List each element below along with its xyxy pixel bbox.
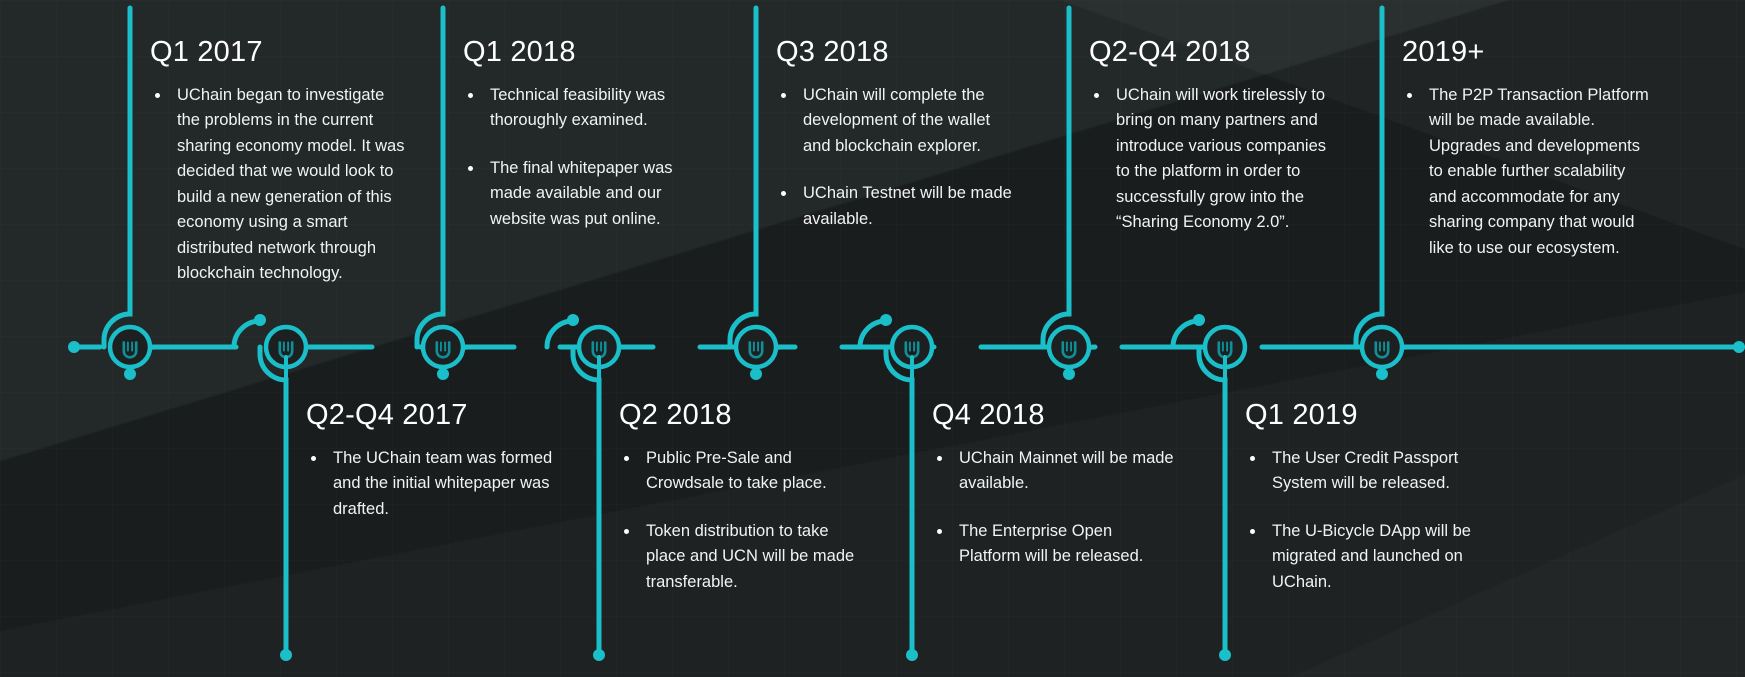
milestone-rule bbox=[441, 8, 445, 308]
timeline-node[interactable] bbox=[110, 327, 150, 367]
bullet-text: UChain will complete the development of … bbox=[803, 86, 990, 155]
milestone-card-q2-q4-2017: Q2-Q4 2017 The UChain team was formed an… bbox=[284, 390, 574, 522]
milestone-title: 2019+ bbox=[1402, 37, 1655, 69]
bullet-text: UChain Mainnet will be made available. bbox=[959, 449, 1174, 493]
milestone-bullet: The User Credit Passport System will be … bbox=[1245, 446, 1478, 497]
bullet-text: Public Pre-Sale and Crowdsale to take pl… bbox=[646, 449, 827, 493]
milestone-title: Q1 2018 bbox=[463, 37, 709, 69]
bullet-text: The Enterprise Open Platform will be rel… bbox=[959, 522, 1143, 566]
milestone-bullet: The UChain team was formed and the initi… bbox=[306, 446, 574, 523]
bullet-dot bbox=[1250, 456, 1255, 461]
timeline-node-group bbox=[110, 327, 1402, 367]
milestone-card-q1-2017: Q1 2017 UChain began to investigate the … bbox=[128, 8, 408, 287]
bullet-dot bbox=[624, 529, 629, 534]
bullet-text: UChain began to investigate the problems… bbox=[177, 86, 404, 283]
milestone-rule bbox=[1380, 8, 1384, 308]
milestone-bullets: The User Credit Passport System will be … bbox=[1245, 446, 1478, 596]
bullet-dot bbox=[781, 191, 786, 196]
timeline-node[interactable] bbox=[423, 327, 463, 367]
milestone-card-q2-2018: Q2 2018 Public Pre-Sale and Crowdsale to… bbox=[597, 390, 865, 595]
milestone-title: Q1 2019 bbox=[1245, 400, 1478, 432]
milestone-bullets: UChain Mainnet will be made available. T… bbox=[932, 446, 1178, 570]
milestone-bullets: UChain will work tirelessly to bring on … bbox=[1089, 83, 1335, 236]
timeline-node[interactable] bbox=[1362, 327, 1402, 367]
milestone-rule bbox=[1067, 8, 1071, 308]
milestone-card-q4-2018: Q4 2018 UChain Mainnet will be made avai… bbox=[910, 390, 1178, 570]
milestone-bullet: Technical feasibility was thoroughly exa… bbox=[463, 83, 709, 134]
bullet-dot bbox=[624, 456, 629, 461]
milestone-card-q2-q4-2018: Q2-Q4 2018 UChain will work tirelessly t… bbox=[1067, 8, 1335, 236]
milestone-bullet: UChain began to investigate the problems… bbox=[150, 83, 408, 287]
milestone-bullet: UChain will complete the development of … bbox=[776, 83, 1022, 160]
bullet-dot bbox=[311, 456, 316, 461]
milestone-title: Q2-Q4 2017 bbox=[306, 400, 574, 432]
bullet-dot bbox=[1407, 93, 1412, 98]
milestone-rule bbox=[284, 355, 288, 620]
milestone-rule bbox=[1223, 355, 1227, 620]
milestone-rule bbox=[597, 355, 601, 620]
bullet-dot bbox=[1094, 93, 1099, 98]
milestone-rule bbox=[910, 355, 914, 620]
milestone-title: Q2 2018 bbox=[619, 400, 865, 432]
milestone-card-q1-2019: Q1 2019 The User Credit Passport System … bbox=[1223, 390, 1478, 595]
bullet-dot bbox=[937, 456, 942, 461]
milestone-bullet: The P2P Transaction Platform will be mad… bbox=[1402, 83, 1655, 262]
milestone-title: Q1 2017 bbox=[150, 37, 408, 69]
milestone-rule bbox=[754, 8, 758, 308]
milestone-bullets: Public Pre-Sale and Crowdsale to take pl… bbox=[619, 446, 865, 596]
milestone-rule bbox=[128, 8, 132, 308]
bullet-dot bbox=[781, 93, 786, 98]
bullet-dot bbox=[155, 93, 160, 98]
milestone-bullet: UChain Mainnet will be made available. bbox=[932, 446, 1178, 497]
bullet-text: The P2P Transaction Platform will be mad… bbox=[1429, 86, 1649, 257]
bullet-text: The final whitepaper was made available … bbox=[490, 159, 673, 228]
milestone-bullet: Token distribution to take place and UCN… bbox=[619, 519, 865, 596]
milestone-bullet: The final whitepaper was made available … bbox=[463, 156, 709, 233]
bullet-text: UChain Testnet will be made available. bbox=[803, 184, 1012, 228]
bullet-text: Token distribution to take place and UCN… bbox=[646, 522, 854, 591]
bullet-text: Technical feasibility was thoroughly exa… bbox=[490, 86, 665, 130]
timeline-node[interactable] bbox=[736, 327, 776, 367]
bullet-text: The U-Bicycle DApp will be migrated and … bbox=[1272, 522, 1471, 591]
bullet-dot bbox=[1250, 529, 1255, 534]
bullet-text: The UChain team was formed and the initi… bbox=[333, 449, 552, 518]
milestone-title: Q4 2018 bbox=[932, 400, 1178, 432]
milestone-bullets: UChain will complete the development of … bbox=[776, 83, 1022, 233]
milestone-bullet: The Enterprise Open Platform will be rel… bbox=[932, 519, 1178, 570]
bullet-text: UChain will work tirelessly to bring on … bbox=[1116, 86, 1326, 232]
milestone-bullet: Public Pre-Sale and Crowdsale to take pl… bbox=[619, 446, 865, 497]
milestone-card-q3-2018: Q3 2018 UChain will complete the develop… bbox=[754, 8, 1022, 232]
milestone-card-q1-2018: Q1 2018 Technical feasibility was thorou… bbox=[441, 8, 709, 232]
milestone-title: Q3 2018 bbox=[776, 37, 1022, 69]
timeline-node[interactable] bbox=[1049, 327, 1089, 367]
milestone-bullets: Technical feasibility was thoroughly exa… bbox=[463, 83, 709, 233]
milestone-bullet: The U-Bicycle DApp will be migrated and … bbox=[1245, 519, 1478, 596]
milestone-bullet: UChain Testnet will be made available. bbox=[776, 181, 1022, 232]
milestone-title: Q2-Q4 2018 bbox=[1089, 37, 1335, 69]
milestone-card-2019-plus: 2019+ The P2P Transaction Platform will … bbox=[1380, 8, 1655, 261]
bullet-dot bbox=[468, 166, 473, 171]
bullet-dot bbox=[468, 93, 473, 98]
milestone-bullets: The UChain team was formed and the initi… bbox=[306, 446, 574, 523]
milestone-bullets: The P2P Transaction Platform will be mad… bbox=[1402, 83, 1655, 262]
milestone-bullet: UChain will work tirelessly to bring on … bbox=[1089, 83, 1335, 236]
bullet-text: The User Credit Passport System will be … bbox=[1272, 449, 1458, 493]
bullet-dot bbox=[937, 529, 942, 534]
milestone-bullets: UChain began to investigate the problems… bbox=[150, 83, 408, 287]
